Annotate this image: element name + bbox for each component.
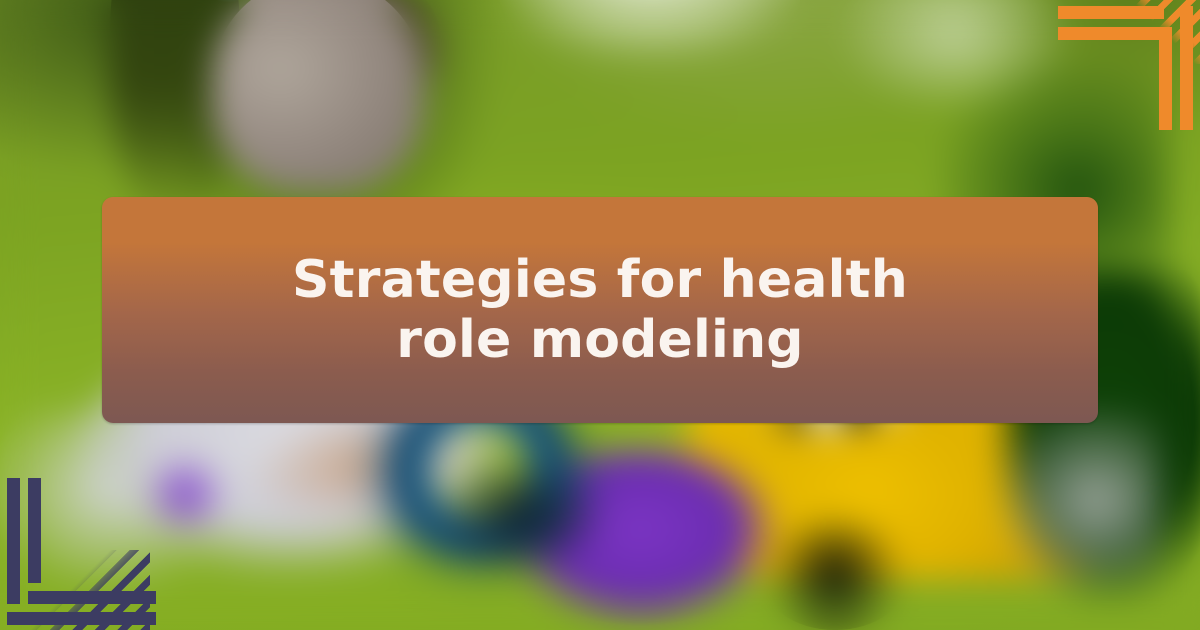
title-card: Strategies for health role modeling <box>102 197 1098 423</box>
graphic-canvas: Strategies for health role modeling <box>0 0 1200 630</box>
page-title: Strategies for health role modeling <box>290 250 910 371</box>
